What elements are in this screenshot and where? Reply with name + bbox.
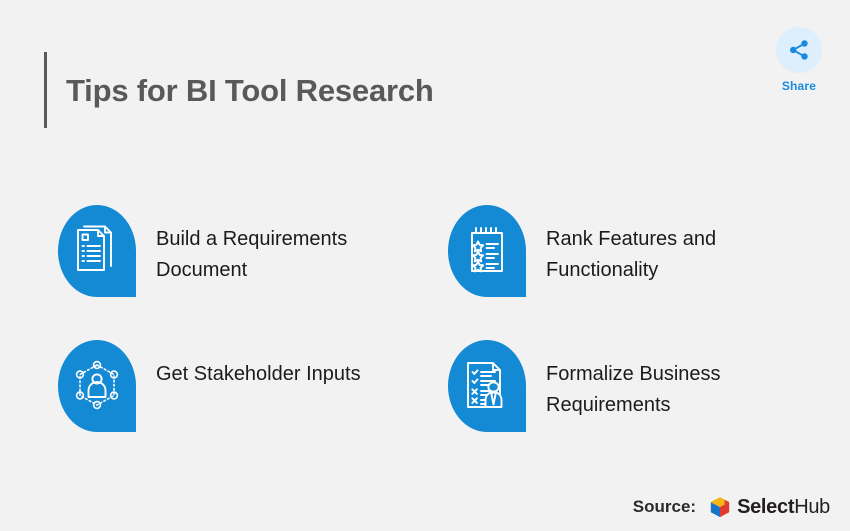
share-button[interactable]: Share — [766, 27, 832, 93]
selecthub-cube-logo — [708, 495, 732, 519]
selecthub-wordmark: SelectHub — [737, 496, 830, 519]
infographic-canvas: Tips for BI Tool Research Share — [0, 0, 850, 531]
tips-grid: Build a Requirements Document — [0, 205, 850, 475]
stakeholder-network-icon — [72, 360, 122, 410]
page-title: Tips for BI Tool Research — [66, 75, 434, 106]
documents-stack-icon — [74, 225, 120, 275]
title-accent-bar — [44, 52, 47, 128]
selecthub-brand[interactable]: SelectHub — [708, 495, 830, 519]
tip-icon-badge — [58, 205, 136, 297]
tip-label: Rank Features and Functionality — [546, 224, 796, 286]
share-label: Share — [782, 79, 816, 93]
tip-icon-badge — [58, 340, 136, 432]
brand-light: Hub — [794, 496, 830, 518]
share-nodes-icon — [787, 38, 811, 62]
notepad-star-rating-icon — [465, 225, 509, 275]
source-label: Source: — [633, 497, 696, 517]
tip-icon-badge — [448, 340, 526, 432]
tip-label: Get Stakeholder Inputs — [156, 359, 361, 390]
checklist-person-icon — [463, 360, 511, 410]
tip-icon-badge — [448, 205, 526, 297]
header: Tips for BI Tool Research Share — [0, 0, 850, 150]
title-block: Tips for BI Tool Research — [44, 52, 434, 128]
tip-item[interactable]: Rank Features and Functionality — [448, 205, 838, 340]
tip-item[interactable]: Build a Requirements Document — [58, 205, 448, 340]
tip-item[interactable]: Formalize Business Requirements — [448, 340, 838, 475]
brand-bold: Select — [737, 496, 794, 518]
tip-label: Formalize Business Requirements — [546, 359, 796, 421]
share-icon-circle[interactable] — [776, 27, 822, 73]
footer-source: Source: SelectHub — [633, 495, 830, 519]
tip-label: Build a Requirements Document — [156, 224, 406, 286]
tip-item[interactable]: Get Stakeholder Inputs — [58, 340, 448, 475]
